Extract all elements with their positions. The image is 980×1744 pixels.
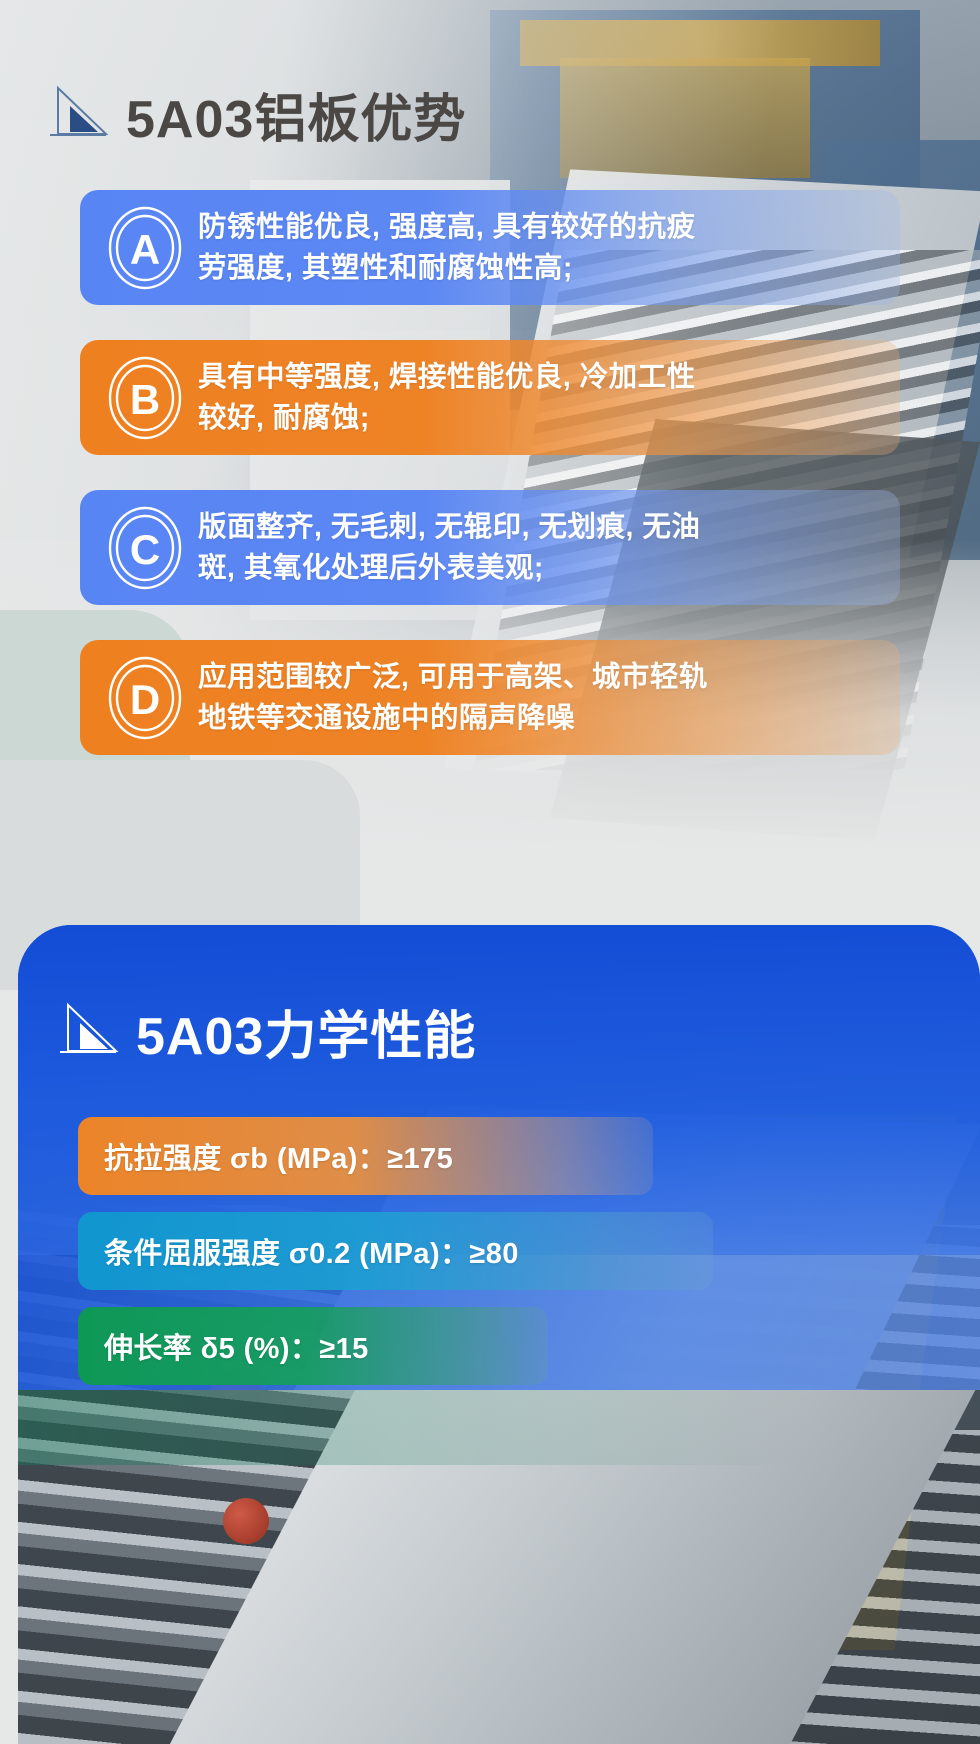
advantage-card-list: A 防锈性能优良, 强度高, 具有较好的抗疲 劳强度, 其塑性和耐腐蚀性高; B… xyxy=(80,190,900,790)
advantage-line: 劳强度, 其塑性和耐腐蚀性高; xyxy=(198,248,696,288)
property-label: 抗拉强度 σb (MPa)：≥175 xyxy=(104,1135,453,1177)
advantage-card-d[interactable]: D 应用范围较广泛, 可用于高架、城市轻轨 地铁等交通设施中的隔声降噪 xyxy=(80,640,900,755)
advantage-text-b: 具有中等强度, 焊接性能优良, 冷加工性 较好, 耐腐蚀; xyxy=(198,357,696,438)
property-label: 伸长率 δ5 (%)：≥15 xyxy=(104,1325,369,1367)
svg-text:A: A xyxy=(130,226,160,273)
section-title-advantages: 5A03铝板优势 xyxy=(50,78,466,146)
rolling-mill-photo xyxy=(18,1390,980,1744)
section-title-mechanical: 5A03力学性能 xyxy=(60,995,476,1063)
svg-text:C: C xyxy=(130,526,160,573)
advantage-line: 地铁等交通设施中的隔声降噪 xyxy=(198,698,708,738)
letter-badge-d-icon: D xyxy=(106,655,184,741)
letter-badge-a-icon: A xyxy=(106,205,184,291)
advantage-text-c: 版面整齐, 无毛刺, 无辊印, 无划痕, 无油 斑, 其氧化处理后外表美观; xyxy=(198,507,700,588)
advantage-line: 版面整齐, 无毛刺, 无辊印, 无划痕, 无油 xyxy=(198,507,700,547)
svg-text:B: B xyxy=(130,376,160,423)
triangle-marker-icon xyxy=(60,995,122,1057)
advantage-line: 具有中等强度, 焊接性能优良, 冷加工性 xyxy=(198,357,696,397)
property-label: 条件屈服强度 σ0.2 (MPa)：≥80 xyxy=(104,1230,519,1272)
page-title: 5A03铝板优势 xyxy=(126,94,466,146)
advantage-line: 应用范围较广泛, 可用于高架、城市轻轨 xyxy=(198,657,708,697)
advantage-card-b[interactable]: B 具有中等强度, 焊接性能优良, 冷加工性 较好, 耐腐蚀; xyxy=(80,340,900,455)
advantage-card-a[interactable]: A 防锈性能优良, 强度高, 具有较好的抗疲 劳强度, 其塑性和耐腐蚀性高; xyxy=(80,190,900,305)
letter-badge-c-icon: C xyxy=(106,505,184,591)
advantage-text-a: 防锈性能优良, 强度高, 具有较好的抗疲 劳强度, 其塑性和耐腐蚀性高; xyxy=(198,207,696,288)
letter-badge-b-icon: B xyxy=(106,355,184,441)
advantage-line: 防锈性能优良, 强度高, 具有较好的抗疲 xyxy=(198,207,696,247)
section-heading: 5A03力学性能 xyxy=(136,1011,476,1063)
property-bar-yield-strength[interactable]: 条件屈服强度 σ0.2 (MPa)：≥80 xyxy=(78,1212,713,1290)
advantage-card-c[interactable]: C 版面整齐, 无毛刺, 无辊印, 无划痕, 无油 斑, 其氧化处理后外表美观; xyxy=(80,490,900,605)
advantage-text-d: 应用范围较广泛, 可用于高架、城市轻轨 地铁等交通设施中的隔声降噪 xyxy=(198,657,708,738)
property-bar-tensile-strength[interactable]: 抗拉强度 σb (MPa)：≥175 xyxy=(78,1117,653,1195)
triangle-marker-icon xyxy=(50,78,112,140)
advantage-line: 斑, 其氧化处理后外表美观; xyxy=(198,548,700,588)
property-bar-list: 抗拉强度 σb (MPa)：≥175 条件屈服强度 σ0.2 (MPa)：≥80… xyxy=(78,1117,938,1402)
property-bar-elongation[interactable]: 伸长率 δ5 (%)：≥15 xyxy=(78,1307,548,1385)
advantage-line: 较好, 耐腐蚀; xyxy=(198,398,696,438)
svg-text:D: D xyxy=(130,676,160,723)
poster-page: 5A03铝板优势 A 防锈性能优良, 强度高, 具有较好的抗疲 劳强度, 其塑性… xyxy=(0,0,980,1744)
